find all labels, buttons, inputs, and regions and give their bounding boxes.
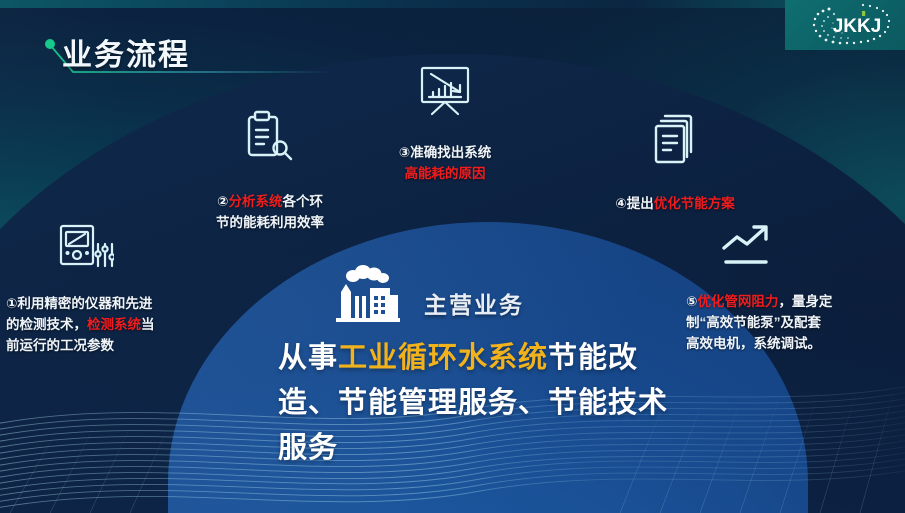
flow-step-4[interactable]: ④提出优化节能方案 (580, 110, 770, 214)
step2-highlight: 分析系统 (228, 194, 282, 209)
business-description: 从事工业循环水系统节能改造、节能管理服务、节能技术服务 (278, 336, 678, 471)
page-title-text: 业务流程 (62, 30, 190, 74)
step5-highlight: 优化管网阻力 (697, 294, 778, 309)
flow-step-2-text: ②分析系统各个环 节的能耗利用效率 (180, 170, 360, 233)
step3-highlight: 高能耗的原因 (405, 166, 486, 181)
measuring-instrument-icon (58, 222, 114, 272)
background-top-stripe (0, 0, 905, 8)
step4-pre: ④提出 (615, 196, 653, 211)
page-title: 业务流程 (44, 30, 334, 80)
step4-highlight: 优化节能方案 (654, 196, 735, 211)
step2-pre: ② (217, 194, 228, 209)
flow-step-1-text: ①利用精密的仪器和先进 的检测技术，检测系统当 前运行的工况参数 (6, 272, 221, 356)
logo-text: JKKJ (833, 16, 882, 37)
slide-canvas: JKKJ 业务流程 (0, 0, 905, 513)
flow-step-2[interactable]: ②分析系统各个环 节的能耗利用效率 (180, 108, 360, 233)
flow-step-3-text: ③准确找出系统 高能耗的原因 (350, 121, 540, 184)
chart-board-icon (414, 65, 476, 117)
flow-step-1[interactable]: ①利用精密的仪器和先进 的检测技术，检测系统当 前运行的工况参数 (6, 222, 221, 356)
flow-step-5[interactable]: ⑤优化管网阻力，量身定 制“高效节能泵”及配套 高效电机，系统调试。 (686, 222, 901, 354)
flow-step-5-text: ⑤优化管网阻力，量身定 制“高效节能泵”及配套 高效电机，系统调试。 (686, 270, 901, 354)
clipboard-search-icon (242, 108, 298, 166)
step3-pre: ③准确找出系统 (399, 145, 491, 160)
logo-accent-mark (862, 11, 865, 16)
flow-step-3[interactable]: ③准确找出系统 高能耗的原因 (350, 65, 540, 184)
business-header: 主营业务 (328, 262, 524, 324)
business-desc-highlight: 工业循环水系统 (338, 342, 548, 374)
documents-stack-icon (649, 110, 701, 166)
step1-highlight: 检测系统 (87, 317, 141, 332)
business-desc-pre: 从事 (278, 342, 338, 374)
flow-step-4-text: ④提出优化节能方案 (580, 172, 770, 214)
trending-up-arrow-icon (718, 222, 780, 270)
title-bullet-dot (45, 39, 55, 49)
factory-icon (328, 262, 410, 324)
business-label: 主营业务 (424, 286, 524, 324)
brand-logo[interactable]: JKKJ (807, 2, 899, 48)
step5-pre: ⑤ (686, 294, 697, 309)
